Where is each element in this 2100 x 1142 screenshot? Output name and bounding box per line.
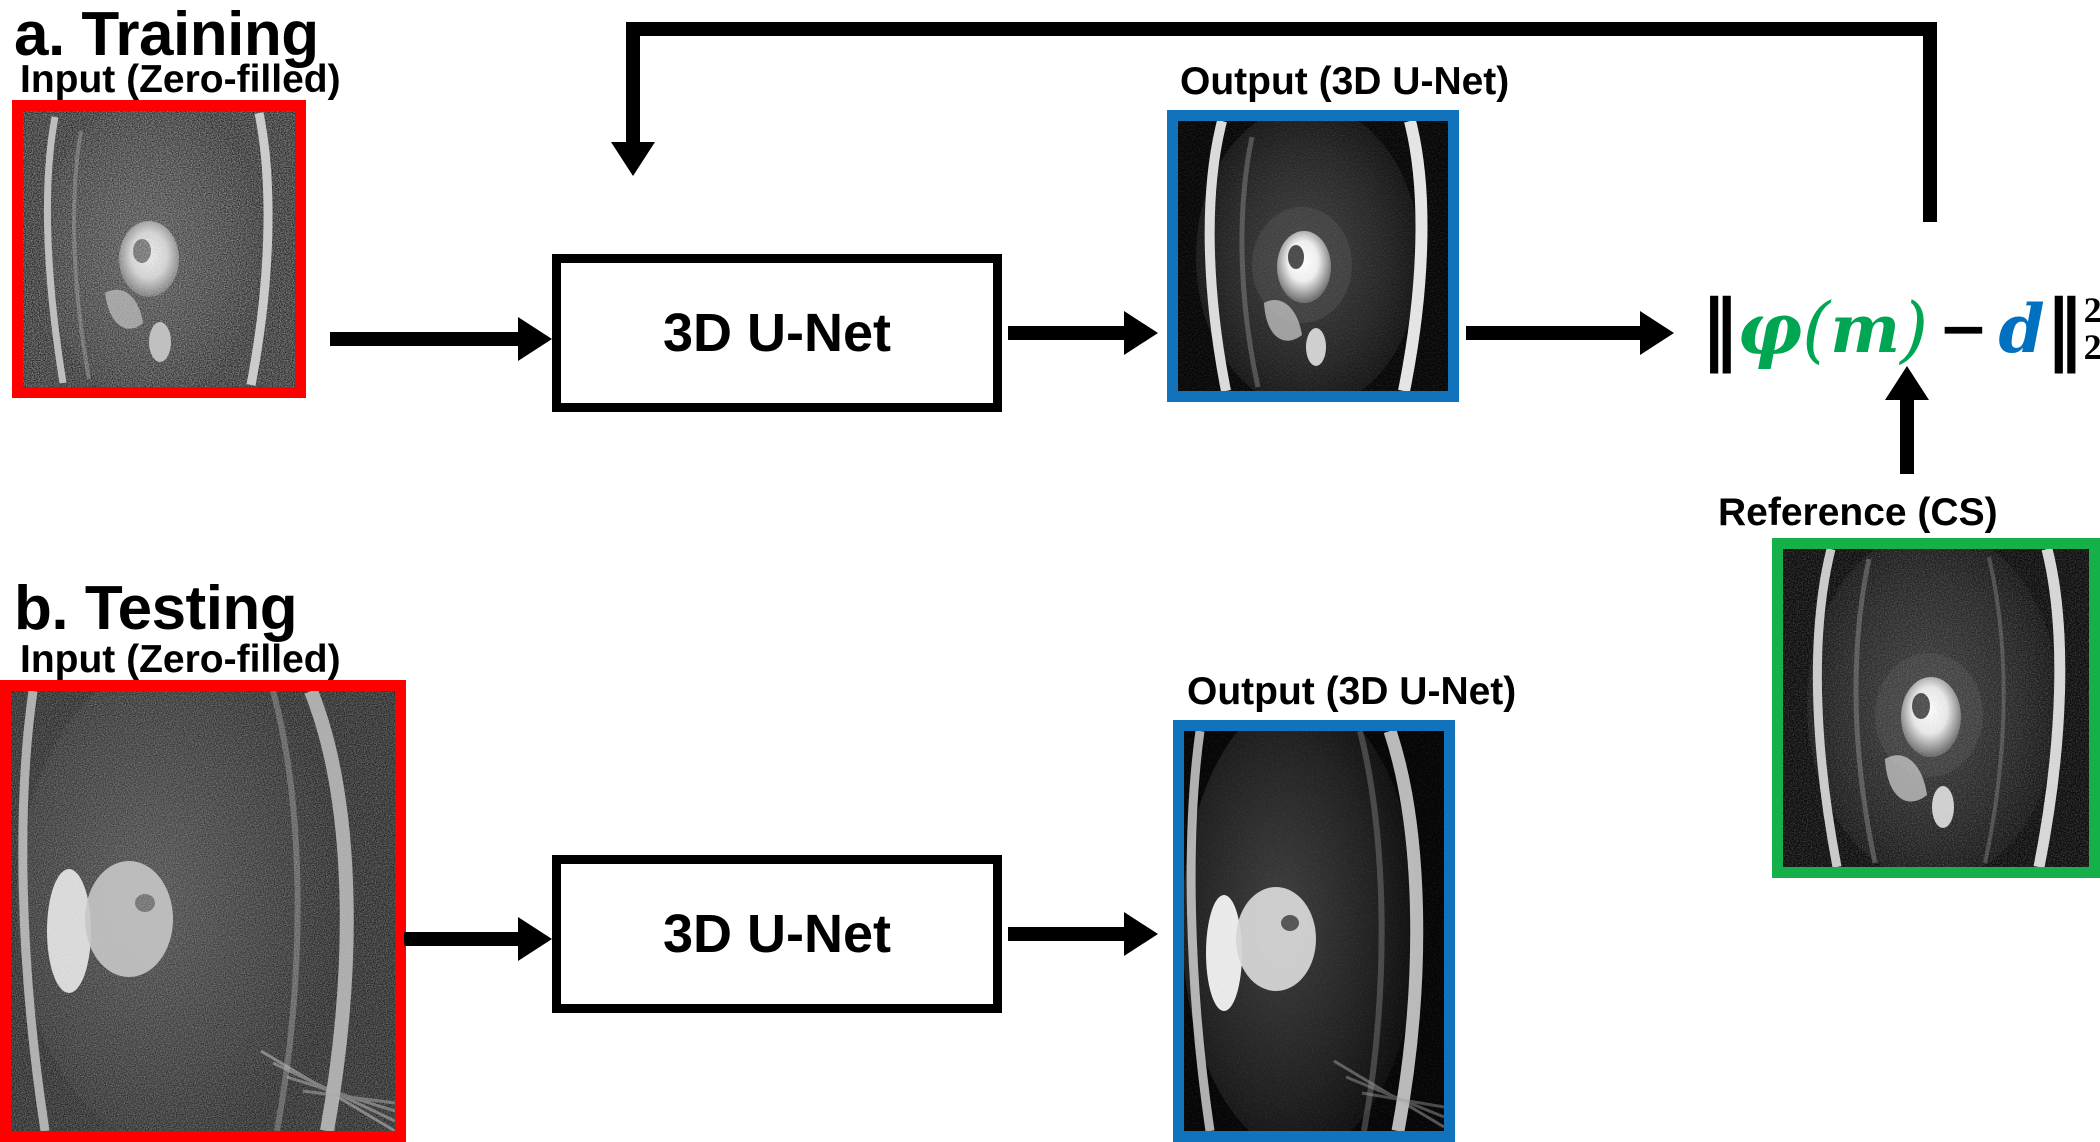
reference-image xyxy=(1772,538,2100,878)
arrow-right-icon xyxy=(1124,912,1158,956)
arrow-shaft xyxy=(1466,326,1644,340)
feedback-left-vertical xyxy=(626,22,640,146)
training-network-label: 3D U-Net xyxy=(663,302,891,364)
mri-unet-output-training xyxy=(1178,121,1448,391)
training-output-image xyxy=(1167,110,1459,402)
reference-label: Reference (CS) xyxy=(1718,493,1998,532)
arrow-shaft xyxy=(330,332,520,346)
loss-norm-exponent: 2 2 xyxy=(2084,292,2100,367)
loss-open-norm-bars: ‖ xyxy=(1700,290,1737,368)
training-network-box: 3D U-Net xyxy=(552,254,1002,412)
figure-canvas: a. Training Input (Zero-filled) xyxy=(0,0,2100,1142)
arrow-right-icon xyxy=(518,917,552,961)
arrow-down-icon xyxy=(611,142,655,176)
training-input-label: Input (Zero-filled) xyxy=(20,60,341,99)
mri-reference-cs xyxy=(1783,549,2089,867)
loss-phi-symbol: φ xyxy=(1737,293,1802,365)
arrow-right-icon xyxy=(1124,311,1158,355)
loss-function: ‖ φ ( m ) − d ‖ 2 2 xyxy=(1700,290,2100,368)
arrow-right-icon xyxy=(518,317,552,361)
mri-zero-filled-training xyxy=(23,111,295,387)
loss-d-variable: d xyxy=(1998,296,2044,362)
testing-input-label: Input (Zero-filled) xyxy=(20,640,341,679)
loss-minus-sign: − xyxy=(1928,299,1998,359)
arrow-shaft xyxy=(1008,927,1126,941)
panel-title-testing: b. Testing xyxy=(14,578,297,640)
feedback-top-horizontal xyxy=(626,22,1937,36)
arrow-shaft xyxy=(1900,396,1914,474)
training-output-label: Output (3D U-Net) xyxy=(1180,62,1509,101)
training-input-image xyxy=(12,100,306,398)
loss-open-paren: ( xyxy=(1802,293,1830,365)
mri-unet-output-testing xyxy=(1184,731,1444,1131)
testing-output-image xyxy=(1173,720,1455,1142)
loss-superscript-2: 2 xyxy=(2084,292,2100,329)
loss-subscript-2: 2 xyxy=(2084,329,2100,366)
testing-output-label: Output (3D U-Net) xyxy=(1187,672,1516,711)
testing-input-image xyxy=(0,680,406,1142)
arrow-shaft xyxy=(404,932,520,946)
mri-zero-filled-testing xyxy=(11,691,395,1131)
feedback-right-vertical xyxy=(1923,22,1937,222)
loss-m-variable: m xyxy=(1830,296,1900,362)
arrow-shaft xyxy=(1008,326,1126,340)
testing-network-label: 3D U-Net xyxy=(663,903,891,965)
panel-title-training: a. Training xyxy=(14,4,319,66)
loss-close-norm-bars: ‖ xyxy=(2045,290,2082,368)
testing-network-box: 3D U-Net xyxy=(552,855,1002,1013)
arrow-up-icon xyxy=(1885,366,1929,400)
arrow-right-icon xyxy=(1640,311,1674,355)
loss-close-paren: ) xyxy=(1900,293,1928,365)
